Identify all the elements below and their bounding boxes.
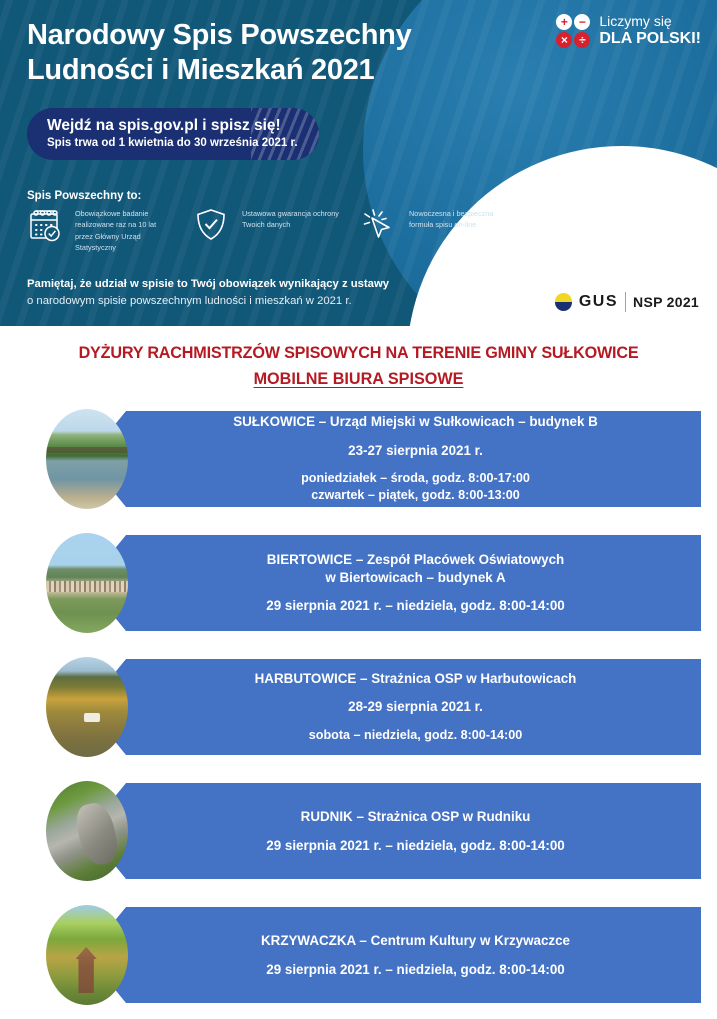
krzywaczka-chapel-photo — [46, 905, 128, 1005]
entry-band: BIERTOWICE – Zespół Placówek Oświatowych… — [104, 535, 701, 631]
calendar-check-icon — [27, 206, 67, 246]
gus-mark-icon — [555, 293, 572, 311]
entry-date: 29 sierpnia 2021 r. – niedziela, godz. 8… — [266, 597, 564, 614]
reminder-line2: o narodowym spisie powszechnym ludności … — [27, 293, 389, 310]
entry-date: 28-29 sierpnia 2021 r. — [348, 698, 483, 715]
math-operators-icon-group: + − × ÷ — [556, 14, 590, 48]
biertowice-village-photo — [46, 533, 128, 633]
features-list: Obowiązkowe badanie realizowane raz na 1… — [27, 206, 506, 253]
feature-item-guarantee: Ustawowa gwarancja ochrony Twoich danych — [194, 206, 339, 253]
cursor-click-icon — [361, 206, 401, 246]
entry-hours-2: czwartek – piątek, godz. 8:00-13:00 — [311, 487, 520, 504]
tagline-line1: Liczymy się — [599, 14, 701, 30]
entry-band: KRZYWACZKA – Centrum Kultury w Krzywaczc… — [104, 907, 701, 1003]
entry-title-cont: w Biertowicach – budynek A — [325, 569, 505, 586]
harbutowice-autumn-photo — [46, 657, 128, 757]
entry-hours-1: sobota – niedziela, godz. 8:00-14:00 — [309, 727, 522, 744]
shield-check-icon — [194, 206, 234, 246]
list-item: BIERTOWICE – Zespół Placówek Oświatowych… — [0, 529, 717, 637]
entry-date: 29 sierpnia 2021 r. – niedziela, godz. 8… — [266, 837, 564, 854]
sulkowice-lake-photo — [46, 409, 128, 509]
nsp-banner: Narodowy Spis Powszechny Ludności i Mies… — [0, 0, 717, 326]
entry-title: HARBUTOWICE – Strażnica OSP w Harbutowic… — [255, 670, 577, 687]
rudnik-rock-photo — [46, 781, 128, 881]
entry-title: KRZYWACZKA – Centrum Kultury w Krzywaczc… — [261, 932, 570, 949]
feature-item-online: Nowoczesna i bezpieczna formuła spisu on… — [361, 206, 506, 253]
entry-title: BIERTOWICE – Zespół Placówek Oświatowych — [267, 551, 564, 568]
entry-date: 23-27 sierpnia 2021 r. — [348, 442, 483, 459]
banner-title-line1: Narodowy Spis Powszechny — [27, 18, 411, 53]
gus-wordmark: GUS — [579, 293, 618, 311]
gus-divider — [625, 292, 626, 312]
entry-title: SUŁKOWICE – Urząd Miejski w Sułkowicach … — [233, 413, 598, 430]
cta-subline: Spis trwa od 1 kwietnia do 30 września 2… — [47, 137, 298, 149]
gus-logo: GUS NSP 2021 — [555, 292, 699, 312]
cta-pill[interactable]: Wejdź na spis.gov.pl i spisz się! Spis t… — [27, 108, 319, 160]
list-item: KRZYWACZKA – Centrum Kultury w Krzywaczc… — [0, 901, 717, 1009]
liczymy-tagline: Liczymy się DLA POLSKI! — [599, 14, 701, 48]
page-title: DYŻURY RACHMISTRZÓW SPISOWYCH NA TERENIE… — [0, 344, 717, 363]
minus-icon: − — [574, 14, 590, 30]
times-icon: × — [556, 32, 572, 48]
entry-band: HARBUTOWICE – Strażnica OSP w Harbutowic… — [104, 659, 701, 755]
features-heading: Spis Powszechny to: — [27, 190, 141, 202]
list-item: SUŁKOWICE – Urząd Miejski w Sułkowicach … — [0, 405, 717, 513]
liczymy-sie-logo: + − × ÷ Liczymy się DLA POLSKI! — [556, 14, 701, 48]
feature-label: Ustawowa gwarancja ochrony Twoich danych — [242, 206, 339, 231]
feature-label: Obowiązkowe badanie realizowane raz na 1… — [75, 206, 172, 253]
page-subtitle: MOBILNE BIURA SPISOWE — [0, 370, 717, 389]
list-item: HARBUTOWICE – Strażnica OSP w Harbutowic… — [0, 653, 717, 761]
entry-band: SUŁKOWICE – Urząd Miejski w Sułkowicach … — [104, 411, 701, 507]
entry-title: RUDNIK – Strażnica OSP w Rudniku — [301, 808, 531, 825]
tagline-line2: DLA POLSKI! — [599, 30, 701, 48]
plus-icon: + — [556, 14, 572, 30]
reminder-text: Pamiętaj, że udział w spisie to Twój obo… — [27, 276, 389, 310]
reminder-line1: Pamiętaj, że udział w spisie to Twój obo… — [27, 276, 389, 293]
list-item: RUDNIK – Strażnica OSP w Rudniku 29 sier… — [0, 777, 717, 885]
entry-date: 29 sierpnia 2021 r. – niedziela, godz. 8… — [266, 961, 564, 978]
feature-label: Nowoczesna i bezpieczna formuła spisu on… — [409, 206, 506, 231]
entry-band: RUDNIK – Strażnica OSP w Rudniku 29 sier… — [104, 783, 701, 879]
banner-title: Narodowy Spis Powszechny Ludności i Mies… — [27, 18, 411, 89]
page-headings: DYŻURY RACHMISTRZÓW SPISOWYCH NA TERENIE… — [0, 344, 717, 389]
feature-item-obligatory: Obowiązkowe badanie realizowane raz na 1… — [27, 206, 172, 253]
mobile-offices-list: SUŁKOWICE – Urząd Miejski w Sułkowicach … — [0, 405, 717, 1009]
cta-headline: Wejdź na spis.gov.pl i spisz się! — [47, 117, 281, 135]
nsp-label: NSP 2021 — [633, 294, 699, 310]
entry-hours-1: poniedziałek – środa, godz. 8:00-17:00 — [301, 470, 530, 487]
divide-icon: ÷ — [574, 32, 590, 48]
banner-title-line2: Ludności i Mieszkań 2021 — [27, 53, 411, 88]
